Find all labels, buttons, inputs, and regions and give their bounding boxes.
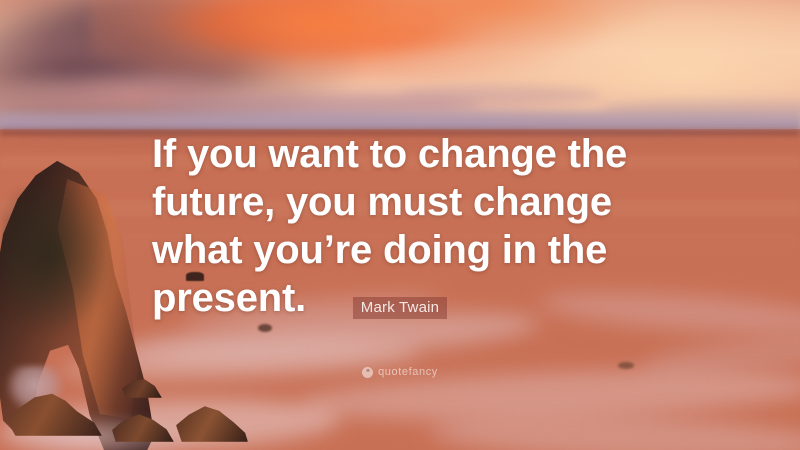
- quote-mark-icon: ❝: [362, 367, 373, 378]
- watermark-label: quotefancy: [378, 366, 438, 378]
- distant-rock: [258, 324, 272, 332]
- orange-lit-cloud-secondary: [330, 0, 660, 48]
- watermark: ❝ quotefancy: [0, 366, 800, 378]
- horizon-haze-band: [0, 108, 800, 129]
- quote-author-container: Mark Twain: [0, 297, 800, 319]
- quote-image: If you want to change the future, you mu…: [0, 0, 800, 450]
- quote-author: Mark Twain: [353, 297, 447, 319]
- quote-text: If you want to change the future, you mu…: [152, 130, 660, 322]
- cloud-wisp: [400, 86, 600, 104]
